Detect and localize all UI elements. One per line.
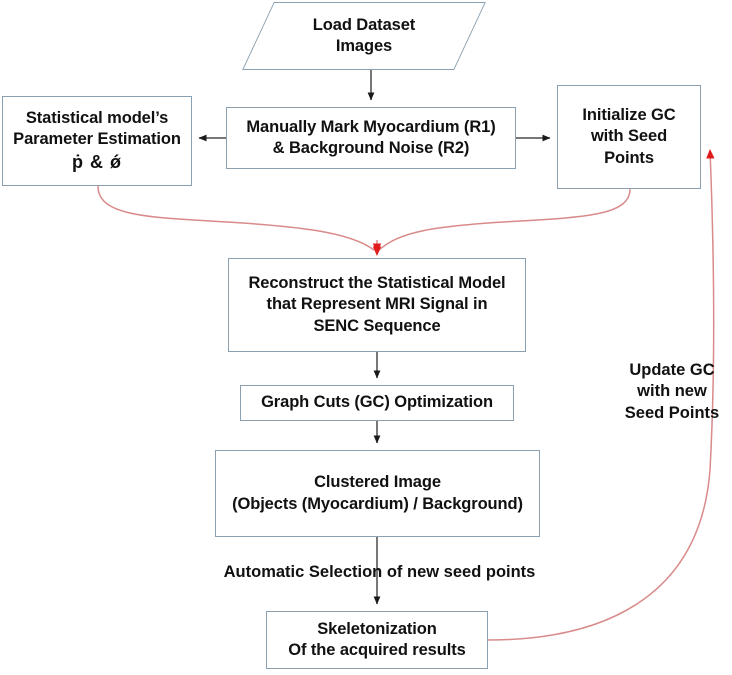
edge-params-to-reconstruct: [98, 186, 374, 250]
node-skeletonization-line1: Skeletonization: [271, 619, 483, 640]
node-clustered-image-line2: (Objects (Myocardium) / Background): [220, 494, 535, 515]
node-initialize-gc-line1: Initialize GC: [562, 105, 696, 126]
node-reconstruct-model-line1: Reconstruct the Statistical Model: [233, 273, 521, 294]
node-skeletonization-line2: Of the acquired results: [271, 640, 483, 661]
node-reconstruct-model-line2: that Represent MRI Signal in: [233, 294, 521, 315]
node-initialize-gc[interactable]: Initialize GC with Seed Points: [557, 85, 701, 189]
node-initialize-gc-line2: with Seed: [562, 126, 696, 147]
node-reconstruct-model[interactable]: Reconstruct the Statistical Model that R…: [228, 258, 526, 352]
edge-init-to-reconstruct: [379, 189, 630, 250]
edge-label-update-gc-line3: Seed Points: [612, 403, 732, 424]
node-skeletonization[interactable]: Skeletonization Of the acquired results: [266, 611, 488, 669]
edge-label-update-gc-line1: Update GC: [612, 360, 732, 381]
node-graph-cuts[interactable]: Graph Cuts (GC) Optimization: [240, 385, 514, 421]
node-parameter-estimation-symbols: ṗ & ǿ: [7, 151, 187, 174]
node-manual-mark-line2: & Background Noise (R2): [231, 138, 511, 159]
flowchart-canvas: Load Dataset Images Statistical model’s …: [0, 0, 732, 675]
node-manual-mark[interactable]: Manually Mark Myocardium (R1) & Backgrou…: [226, 107, 516, 169]
node-load-dataset[interactable]: Load Dataset Images: [258, 2, 470, 70]
edge-label-update-gc: Update GC with new Seed Points: [612, 360, 732, 424]
node-manual-mark-line1: Manually Mark Myocardium (R1): [231, 117, 511, 138]
edge-label-auto-selection: Automatic Selection of new seed points: [207, 562, 552, 583]
node-parameter-estimation-line2: Parameter Estimation: [7, 129, 187, 150]
node-load-dataset-line2: Images: [262, 36, 466, 57]
node-load-dataset-line1: Load Dataset: [262, 15, 466, 36]
node-parameter-estimation-line1: Statistical model’s: [7, 108, 187, 129]
node-graph-cuts-line1: Graph Cuts (GC) Optimization: [245, 392, 509, 413]
edge-label-update-gc-line2: with new: [612, 381, 732, 402]
node-initialize-gc-line3: Points: [562, 148, 696, 169]
node-clustered-image-line1: Clustered Image: [220, 472, 535, 493]
node-parameter-estimation[interactable]: Statistical model’s Parameter Estimation…: [2, 96, 192, 186]
node-reconstruct-model-line3: SENC Sequence: [233, 316, 521, 337]
node-clustered-image[interactable]: Clustered Image (Objects (Myocardium) / …: [215, 450, 540, 537]
